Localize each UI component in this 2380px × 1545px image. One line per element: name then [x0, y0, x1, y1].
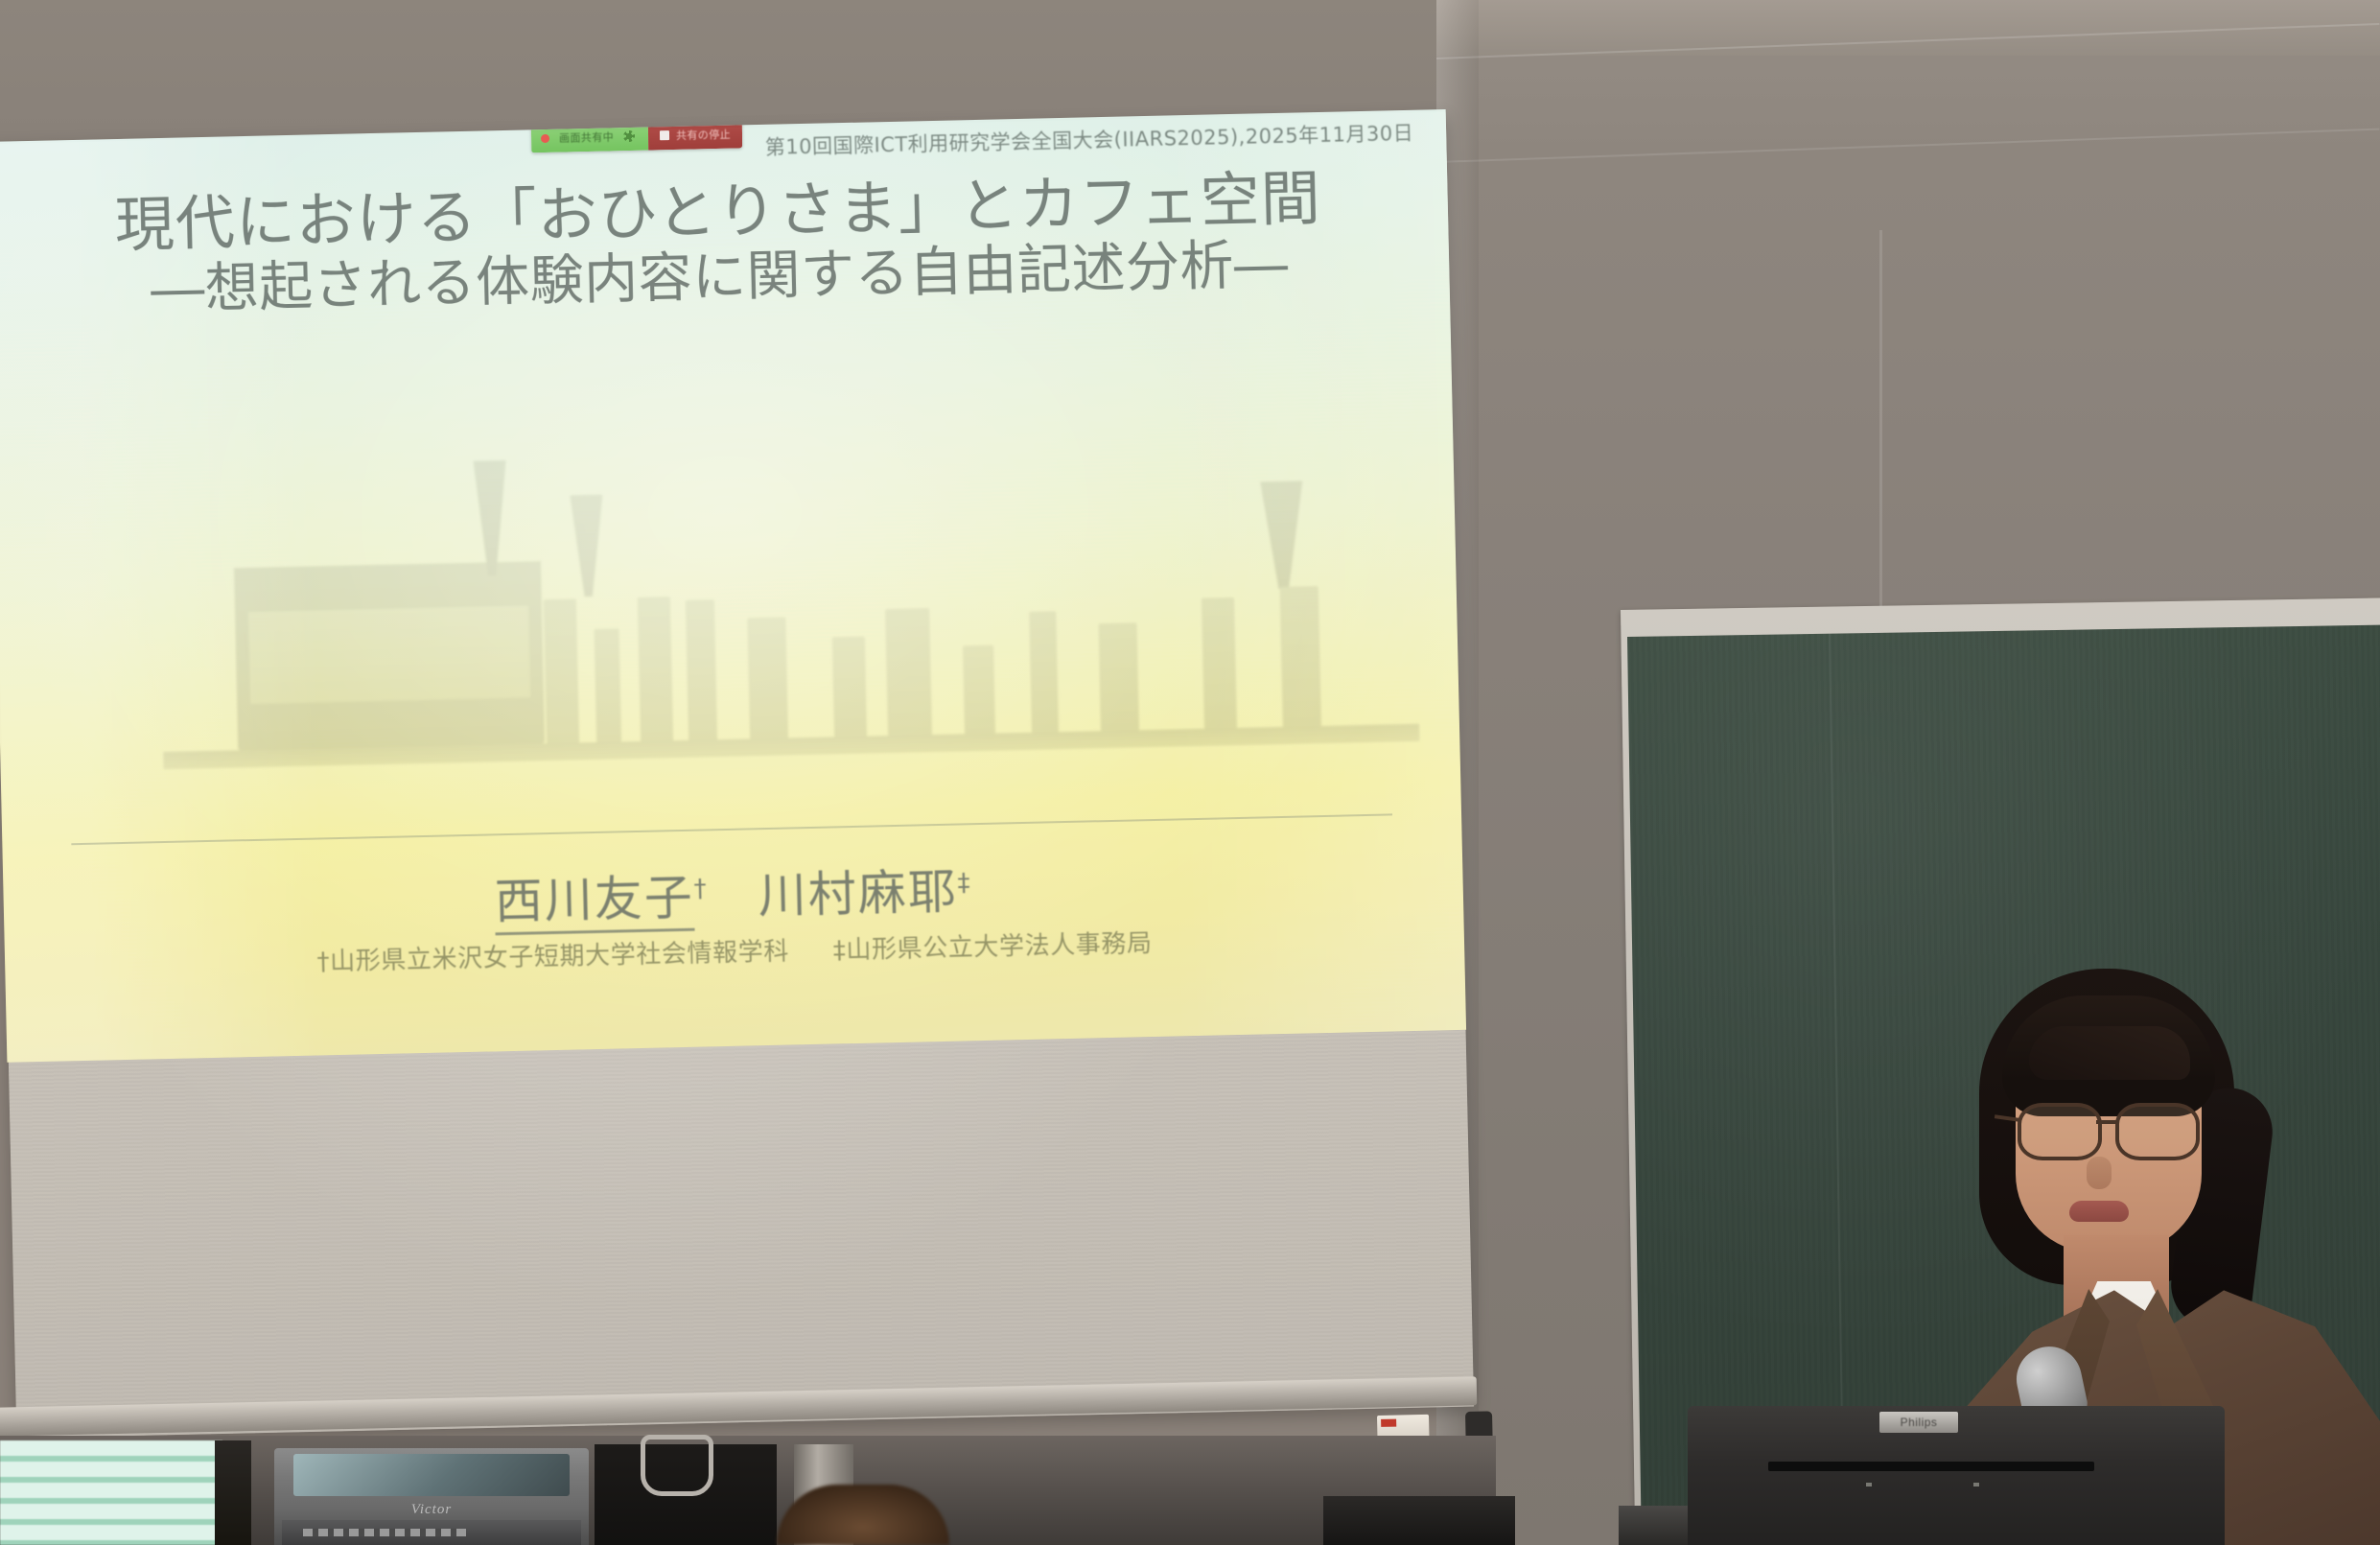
wall-corner-edge: [1879, 230, 1882, 643]
photo-espresso-machine: [234, 561, 545, 750]
av-deck: Victor: [274, 1448, 589, 1545]
author-gap: [709, 912, 758, 913]
presentation-room-photo: 画面共有中 共有の停止 第10回国際ICT利用研究学会全国大会(IIARS202…: [0, 0, 2380, 1545]
affiliation-second: ‡山形県公立大学法人事務局: [833, 929, 1153, 965]
presenter-affiliation-mark: †: [693, 875, 709, 903]
glasses-icon: [2016, 1103, 2207, 1159]
photo-bottle-6: [832, 637, 867, 737]
affiliation-first: †山形県立米沢女子短期大学社会情報学科: [316, 938, 789, 977]
pull-tab-marker: [1381, 1419, 1396, 1427]
glasses-right-lens: [2115, 1103, 2200, 1160]
photo-bottle-12: [1280, 586, 1321, 727]
glasses-bridge: [2096, 1120, 2117, 1124]
window-blinds: [0, 1440, 222, 1545]
presenter-fringe: [2029, 1026, 2190, 1080]
presenter-name: 西川友子: [494, 870, 694, 936]
screen-hook[interactable]: [641, 1435, 713, 1496]
photo-bottle-5: [747, 618, 788, 739]
photo-bottle-11: [1202, 597, 1237, 729]
small-device: [1323, 1496, 1515, 1545]
photo-bottle-3: [638, 597, 673, 741]
monitor-brand-label: Philips: [1879, 1412, 1958, 1433]
photo-pendant-lamp-3: [1260, 480, 1304, 589]
slide-divider-rule: [71, 813, 1392, 845]
photo-pendant-lamp-2: [570, 495, 604, 597]
av-deck-brand-label: Victor: [274, 1502, 589, 1518]
coauthor-affiliation-mark: ‡: [957, 869, 972, 898]
glasses-left-lens: [2018, 1103, 2102, 1160]
cafe-counter-photo: [156, 398, 1421, 809]
affiliation-gap: [789, 958, 833, 959]
photo-pendant-lamp-1: [474, 460, 509, 576]
photo-bottle-2: [595, 628, 622, 742]
photo-bottle-1: [544, 598, 579, 743]
screen-stand-leg: [215, 1440, 251, 1545]
photo-bottle-8: [963, 645, 995, 735]
presenter-mouth: [2069, 1201, 2129, 1222]
projected-slide: 画面共有中 共有の停止 第10回国際ICT利用研究学会全国大会(IIARS202…: [0, 109, 1466, 1063]
presenter-monitor: Philips: [1688, 1406, 2225, 1545]
monitor-brand-badge: Philips: [1879, 1412, 1958, 1433]
photo-bottle-4: [686, 599, 717, 740]
monitor-led-right: [1973, 1483, 1979, 1486]
photo-bottle-10: [1099, 622, 1139, 731]
monitor-vent-slot: [1768, 1462, 2094, 1471]
monitor-led-left: [1866, 1483, 1872, 1486]
av-deck-screen: [293, 1454, 570, 1496]
av-deck-rack: [282, 1520, 581, 1545]
coauthor-name: 川村麻耶: [758, 864, 958, 925]
slide-title-block: 現代における「おひとりさま」とカフェ空間 ―想起される体験内容に関する自由記述分…: [0, 159, 1450, 328]
photo-bottle-9: [1029, 611, 1059, 733]
presenter-nose: [2087, 1157, 2112, 1189]
photo-bottle-7: [885, 608, 932, 736]
